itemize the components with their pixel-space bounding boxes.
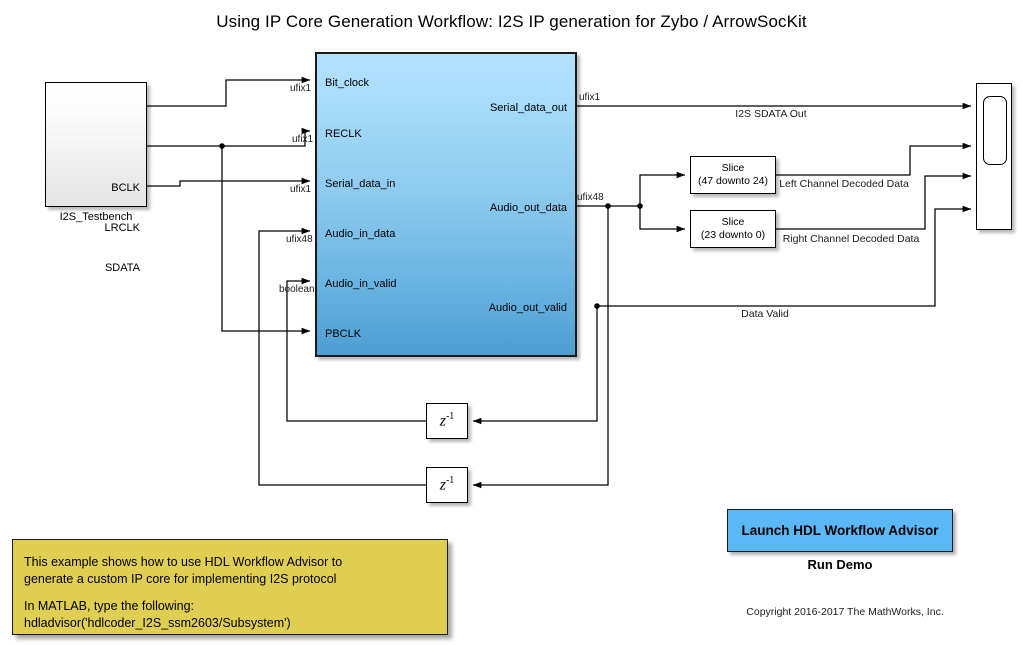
scope-screen-icon <box>983 96 1007 165</box>
note-line-3: In MATLAB, type the following: <box>24 598 447 615</box>
subsystem-input-serial-data-in: Serial_data_in <box>325 178 395 190</box>
launch-button-label: Launch HDL Workflow Advisor <box>741 523 938 538</box>
type-label-serial-data-out: ufix1 <box>579 92 600 103</box>
type-label-audio-out-data: ufix48 <box>577 192 604 203</box>
type-label-bit-clock: ufix1 <box>290 83 311 94</box>
copyright-text: Copyright 2016-2017 The MathWorks, Inc. <box>650 606 1023 618</box>
delay-2-label: z-1 <box>440 476 455 493</box>
testbench-port-bclk: BCLK <box>111 182 140 194</box>
subsystem-output-serial-data-out: Serial_data_out <box>490 102 567 114</box>
slice-high-range: (47 downto 24) <box>698 175 768 188</box>
wire-label-left-channel: Left Channel Decoded Data <box>764 178 924 190</box>
subsystem-input-reclk: RECLK <box>325 128 362 140</box>
testbench-caption: I2S_Testbench <box>45 211 147 223</box>
subsystem-input-audio-in-valid: Audio_in_valid <box>325 278 397 290</box>
type-label-serial-data-in: ufix1 <box>290 184 311 195</box>
slice-block-low[interactable]: Slice (23 downto 0) <box>690 210 776 248</box>
run-demo-caption: Run Demo <box>727 557 953 572</box>
launch-hdl-workflow-advisor-button[interactable]: Launch HDL Workflow Advisor <box>727 509 953 552</box>
type-label-audio-in-data: ufix48 <box>286 234 313 245</box>
note-line-2: generate a custom IP core for implementi… <box>24 571 447 588</box>
unit-delay-block-1[interactable]: z-1 <box>426 403 468 439</box>
wire-label-i2s-sdata-out: I2S SDATA Out <box>691 108 851 120</box>
testbench-port-lrclk: LRCLK <box>105 222 140 234</box>
slice-low-name: Slice <box>722 216 745 229</box>
subsystem-input-bit-clock: Bit_clock <box>325 77 369 89</box>
subsystem-input-audio-in-data: Audio_in_data <box>325 228 395 240</box>
wire-label-data-valid: Data Valid <box>705 308 825 320</box>
type-label-audio-in-valid: boolean <box>279 284 315 295</box>
model-canvas: Using IP Core Generation Workflow: I2S I… <box>0 0 1023 645</box>
type-label-reclk: ufix1 <box>292 134 313 145</box>
subsystem-input-pbclk: PBCLK <box>325 328 361 340</box>
subsystem-output-audio-out-valid: Audio_out_valid <box>489 302 567 314</box>
delay-1-label: z-1 <box>440 412 455 429</box>
note-spacer <box>24 587 447 598</box>
unit-delay-block-2[interactable]: z-1 <box>426 467 468 503</box>
example-description-note: This example shows how to use HDL Workfl… <box>12 539 448 635</box>
testbench-port-sdata: SDATA <box>105 262 140 274</box>
note-line-1: This example shows how to use HDL Workfl… <box>24 554 447 571</box>
i2s-testbench-block[interactable]: BCLK LRCLK SDATA <box>45 82 147 207</box>
note-line-4: hdladvisor('hdlcoder_I2S_ssm2603/Subsyst… <box>24 615 447 632</box>
slice-high-name: Slice <box>722 162 745 175</box>
page-title: Using IP Core Generation Workflow: I2S I… <box>0 12 1023 32</box>
subsystem-output-audio-out-data: Audio_out_data <box>490 202 567 214</box>
i2s-subsystem-block[interactable]: Bit_clock RECLK Serial_data_in Audio_in_… <box>315 52 577 357</box>
wire-label-right-channel: Right Channel Decoded Data <box>771 233 931 245</box>
slice-low-range: (23 downto 0) <box>701 229 765 242</box>
